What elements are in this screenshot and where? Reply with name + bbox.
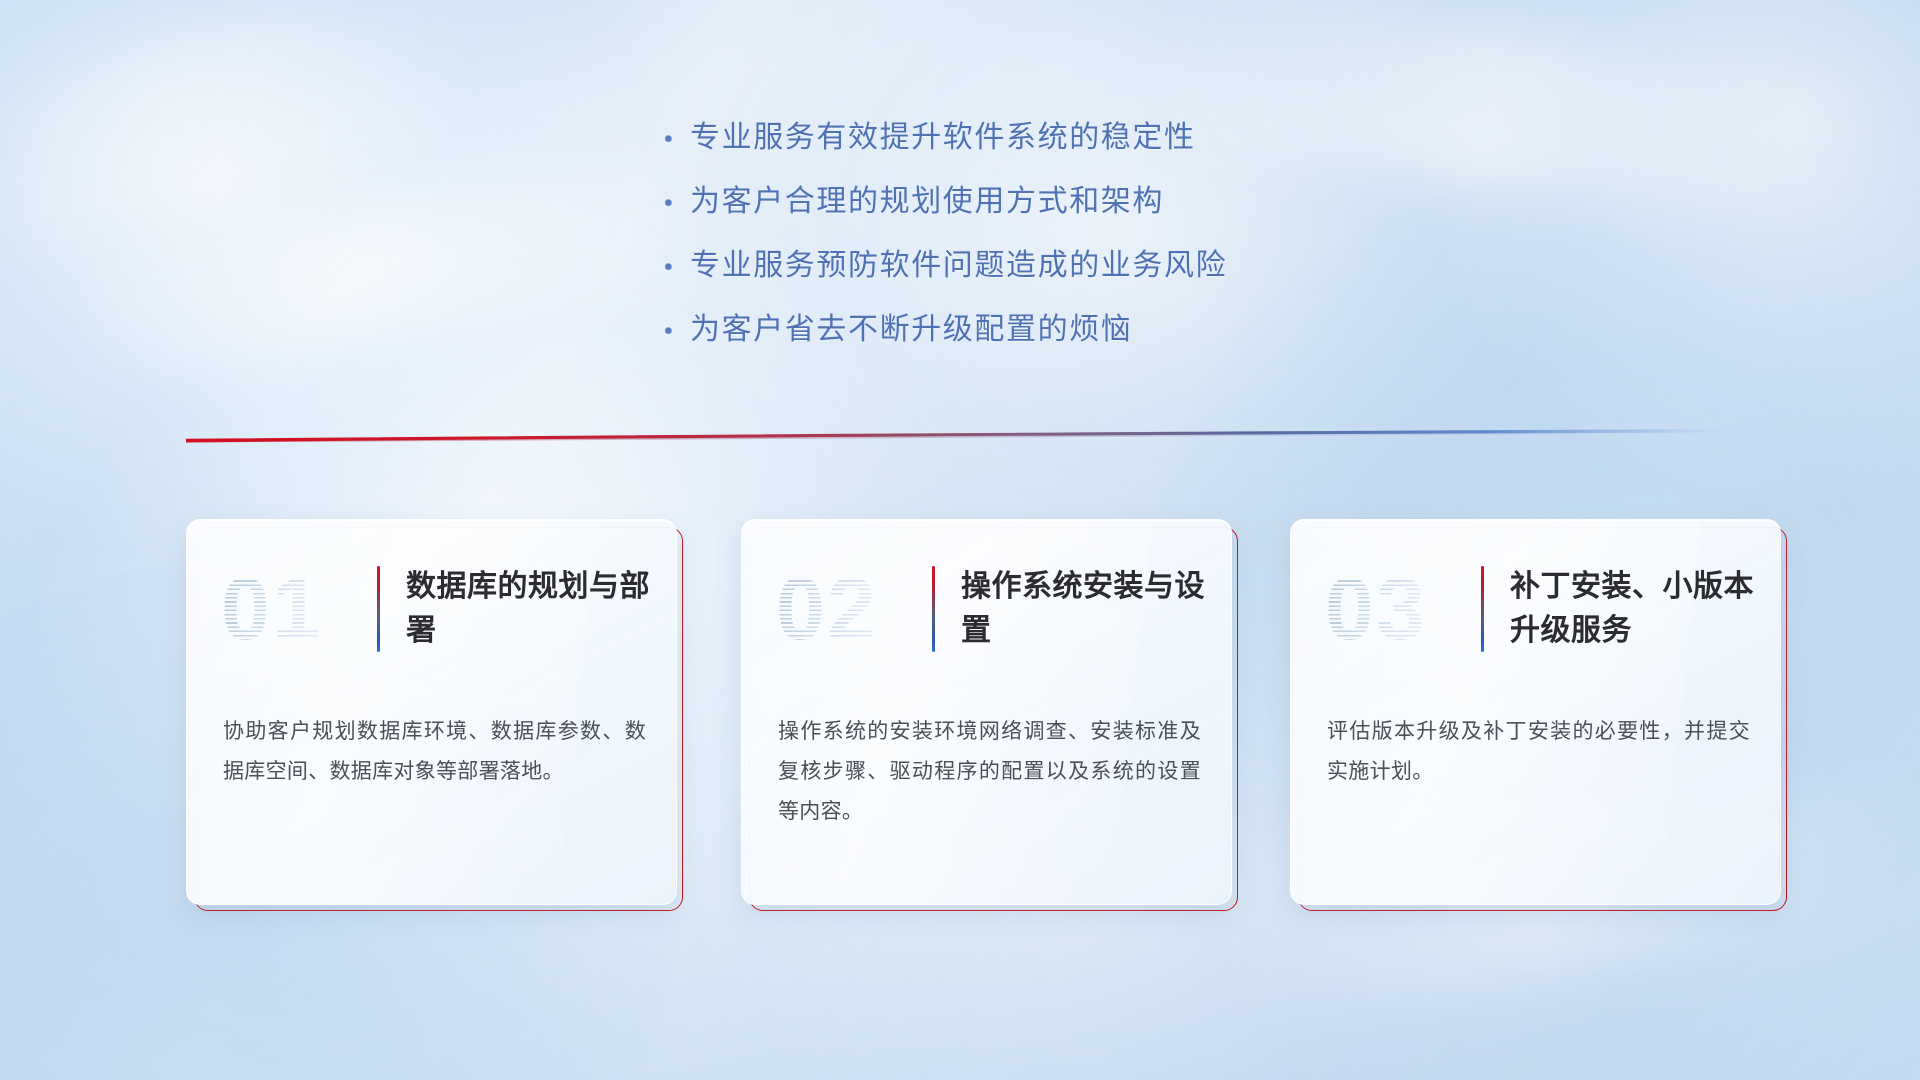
card-divider-bar bbox=[377, 566, 380, 652]
card-title: 补丁安装、小版本升级服务 bbox=[1510, 565, 1758, 653]
service-card-03[interactable]: 03 补丁安装、小版本升级服务 评估版本升级及补丁安装的必要性，并提交实施计划。 bbox=[1290, 519, 1787, 911]
bullet-marker-icon: • bbox=[664, 191, 690, 216]
list-item: • 为客户合理的规划使用方式和架构 bbox=[664, 176, 1227, 240]
card-description: 协助客户规划数据库环境、数据库参数、数据库空间、数据库对象等部署落地。 bbox=[223, 712, 646, 792]
card-header: 02 操作系统安装与设置 bbox=[776, 550, 1209, 668]
card-number-striped: 01 bbox=[221, 555, 371, 663]
card-body: 03 补丁安装、小版本升级服务 评估版本升级及补丁安装的必要性，并提交实施计划。 bbox=[1290, 519, 1781, 905]
card-title: 操作系统安装与设置 bbox=[961, 565, 1209, 653]
bullet-marker-icon: • bbox=[664, 255, 690, 280]
list-item: • 为客户省去不断升级配置的烦恼 bbox=[664, 304, 1227, 368]
card-number-text: 01 bbox=[221, 559, 323, 658]
service-card-02[interactable]: 02 操作系统安装与设置 操作系统的安装环境网络调查、安装标准及复核步骤、驱动程… bbox=[741, 519, 1238, 911]
card-number-text: 03 bbox=[1325, 559, 1427, 658]
bullet-text: 专业服务有效提升软件系统的稳定性 bbox=[690, 112, 1196, 156]
card-divider-bar bbox=[1481, 566, 1484, 652]
card-header: 01 数据库的规划与部署 bbox=[221, 550, 654, 668]
card-divider-bar bbox=[932, 566, 935, 652]
card-body: 02 操作系统安装与设置 操作系统的安装环境网络调查、安装标准及复核步骤、驱动程… bbox=[741, 519, 1232, 905]
list-item: • 专业服务预防软件问题造成的业务风险 bbox=[664, 240, 1227, 304]
card-title: 数据库的规划与部署 bbox=[406, 565, 654, 653]
card-number-text: 02 bbox=[776, 559, 878, 658]
card-body: 01 数据库的规划与部署 协助客户规划数据库环境、数据库参数、数据库空间、数据库… bbox=[186, 519, 677, 905]
service-card-row: 01 数据库的规划与部署 协助客户规划数据库环境、数据库参数、数据库空间、数据库… bbox=[0, 519, 1920, 929]
bullet-text: 为客户省去不断升级配置的烦恼 bbox=[690, 304, 1132, 348]
benefits-bullet-list: • 专业服务有效提升软件系统的稳定性 • 为客户合理的规划使用方式和架构 • 专… bbox=[664, 112, 1227, 368]
bullet-marker-icon: • bbox=[664, 127, 690, 152]
list-item: • 专业服务有效提升软件系统的稳定性 bbox=[664, 112, 1227, 176]
service-card-01[interactable]: 01 数据库的规划与部署 协助客户规划数据库环境、数据库参数、数据库空间、数据库… bbox=[186, 519, 683, 911]
card-number-striped: 02 bbox=[776, 555, 926, 663]
card-number-striped: 03 bbox=[1325, 555, 1475, 663]
bullet-text: 为客户合理的规划使用方式和架构 bbox=[690, 176, 1164, 220]
bullet-marker-icon: • bbox=[664, 319, 690, 344]
card-description: 操作系统的安装环境网络调查、安装标准及复核步骤、驱动程序的配置以及系统的设置等内… bbox=[778, 712, 1201, 832]
card-header: 03 补丁安装、小版本升级服务 bbox=[1325, 550, 1758, 668]
bullet-text: 专业服务预防软件问题造成的业务风险 bbox=[690, 240, 1227, 284]
card-description: 评估版本升级及补丁安装的必要性，并提交实施计划。 bbox=[1327, 712, 1750, 792]
accent-divider-line bbox=[186, 424, 1734, 448]
